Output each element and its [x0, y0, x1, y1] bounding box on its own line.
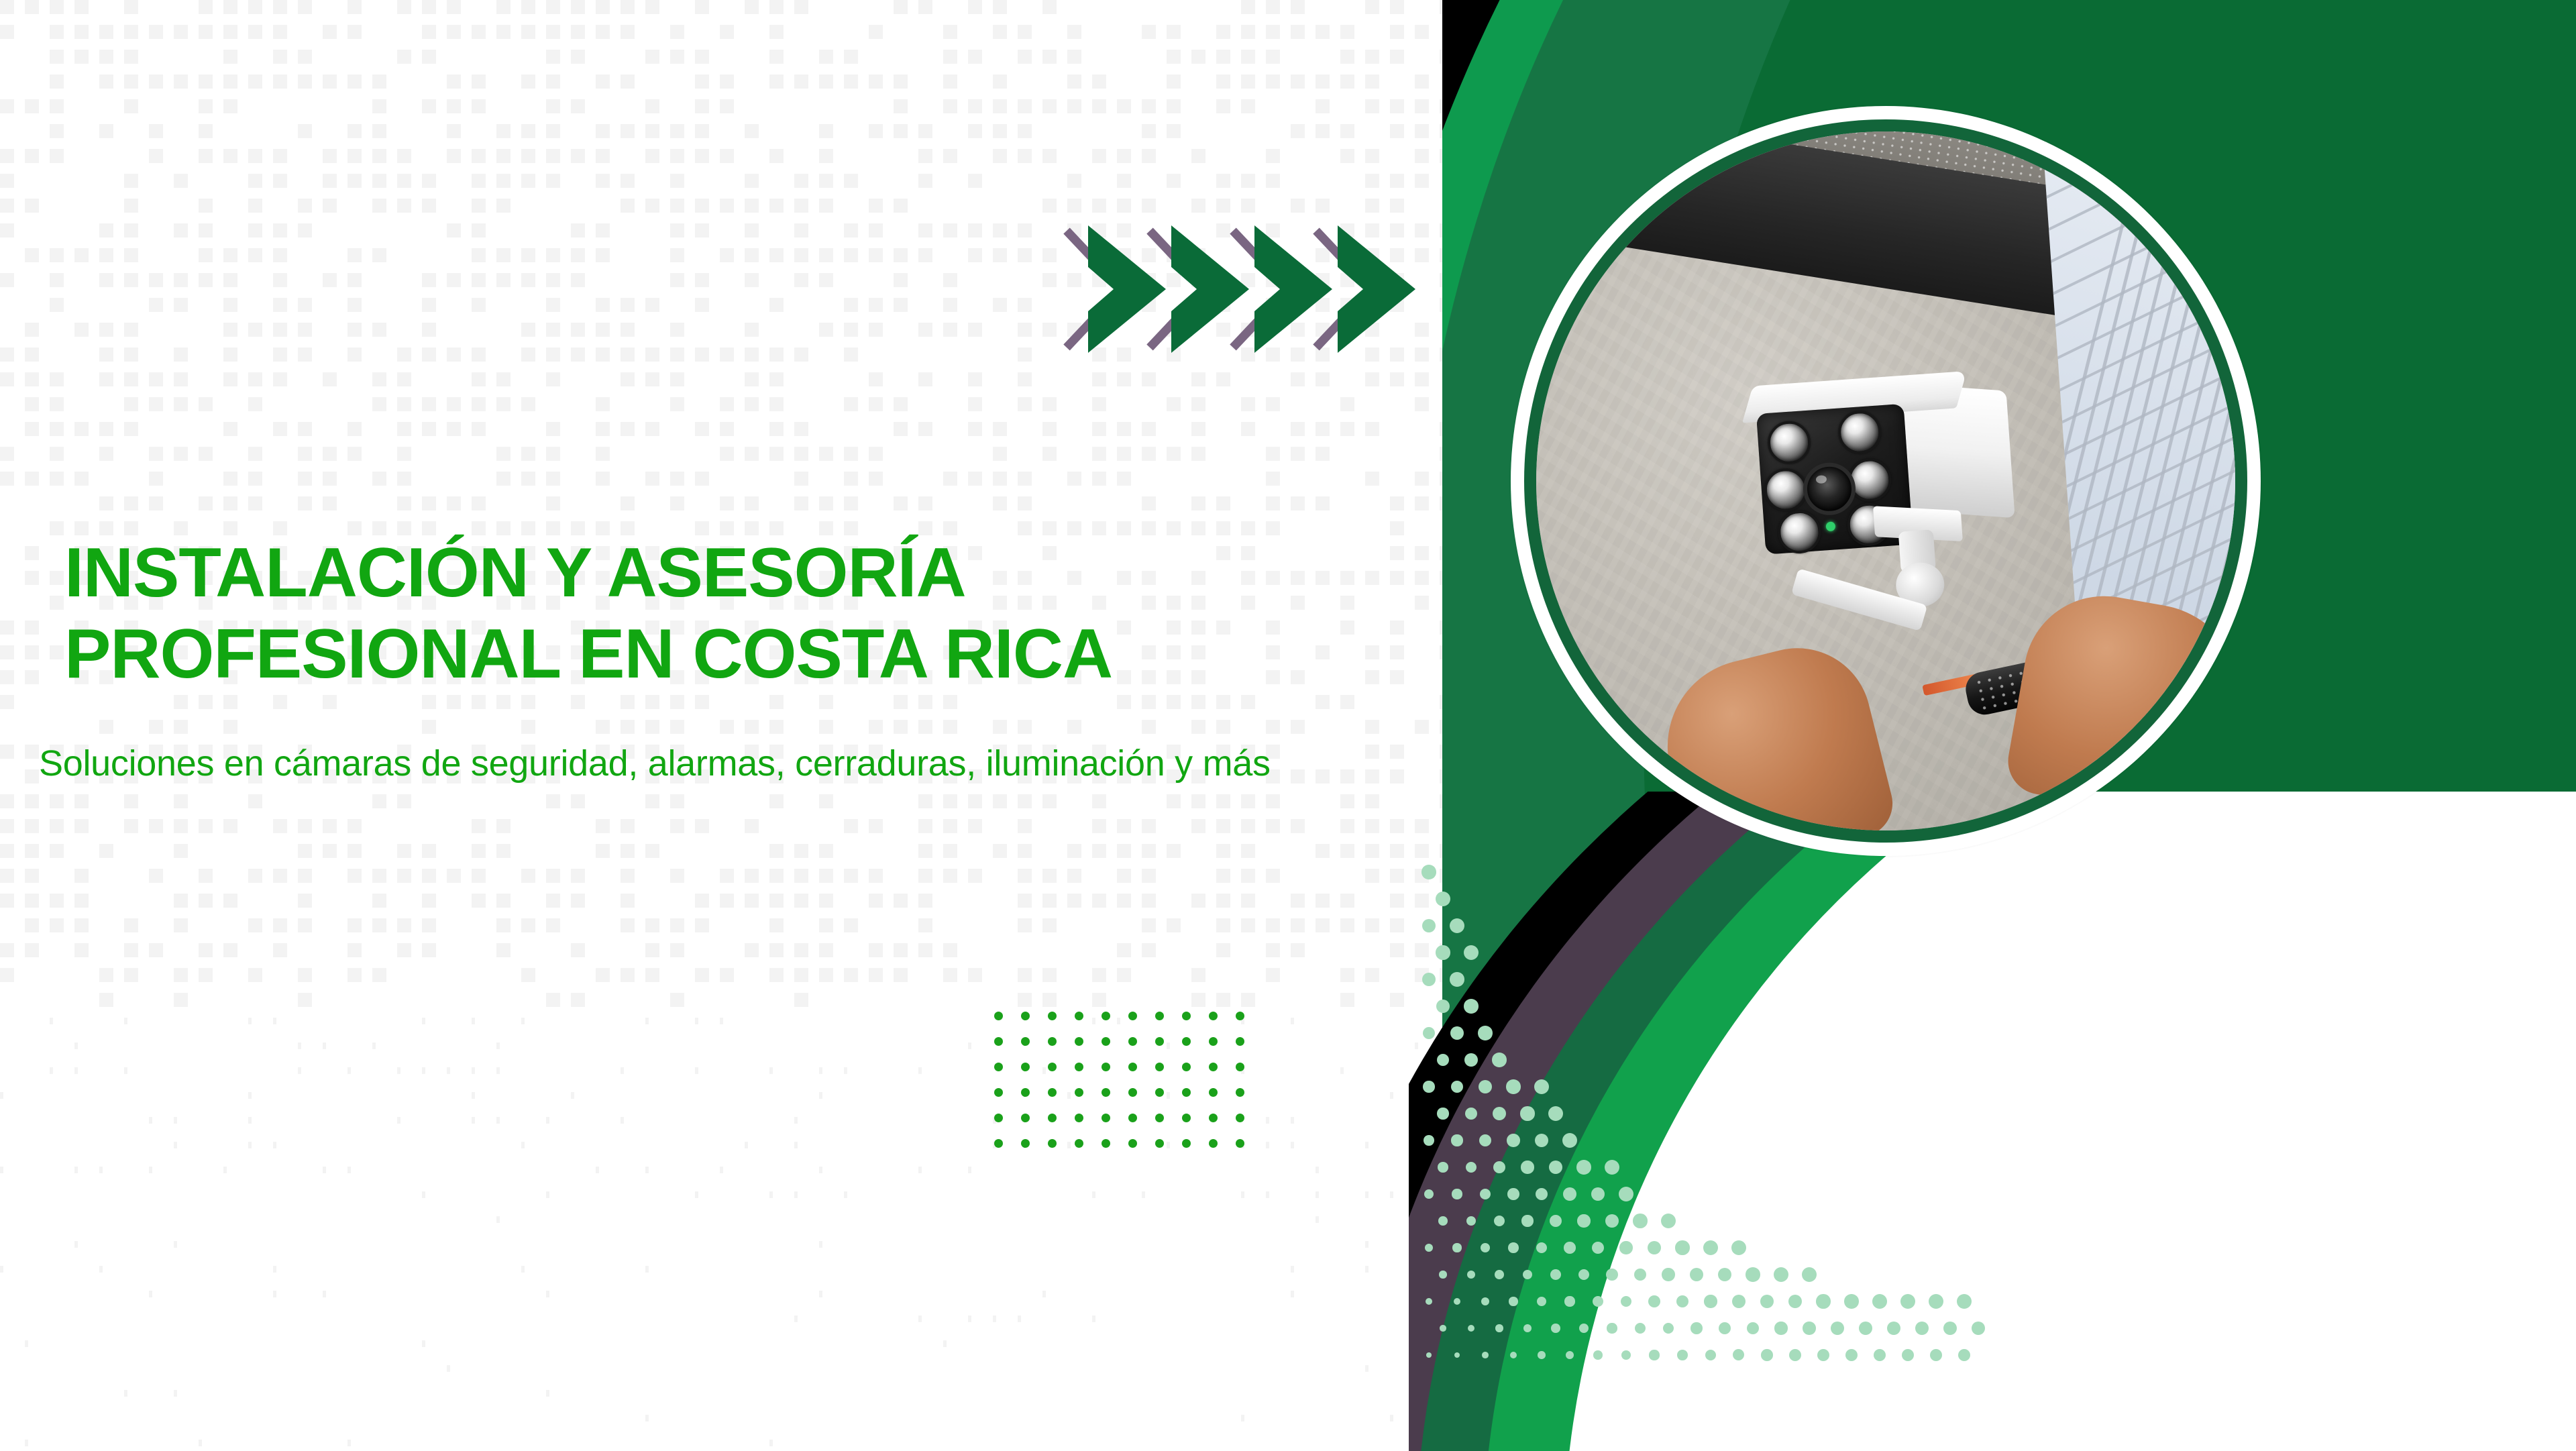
hero-banner: INSTALACIÓN Y ASESORÍA PROFESIONAL EN CO… — [0, 0, 2576, 1451]
chevron-arrow-group — [1061, 225, 1410, 353]
security-camera-photo — [1536, 131, 2235, 830]
bottom-arc-band-group — [1409, 792, 2576, 1451]
page-title: INSTALACIÓN Y ASESORÍA PROFESIONAL EN CO… — [64, 533, 1473, 696]
chevron-arrow — [1061, 225, 1148, 353]
bullet-camera — [1752, 384, 2019, 590]
chevron-arrow — [1311, 225, 1398, 353]
chevron-filled-icon — [1334, 225, 1419, 353]
ir-led-icon — [1766, 420, 1812, 466]
status-led-icon — [1825, 521, 1835, 531]
circular-photo-frame — [1511, 106, 2261, 856]
chevron-arrow — [1228, 225, 1315, 353]
page-subtitle: Soluciones en cámaras de seguridad, alar… — [39, 742, 1515, 786]
green-dot-grid — [994, 1012, 1276, 1152]
ir-led-icon — [1776, 509, 1822, 555]
chevron-arrow — [1144, 225, 1232, 353]
camera-lens-icon — [1801, 461, 1857, 517]
ir-led-icon — [1763, 467, 1809, 513]
ir-led-icon — [1837, 409, 1882, 455]
